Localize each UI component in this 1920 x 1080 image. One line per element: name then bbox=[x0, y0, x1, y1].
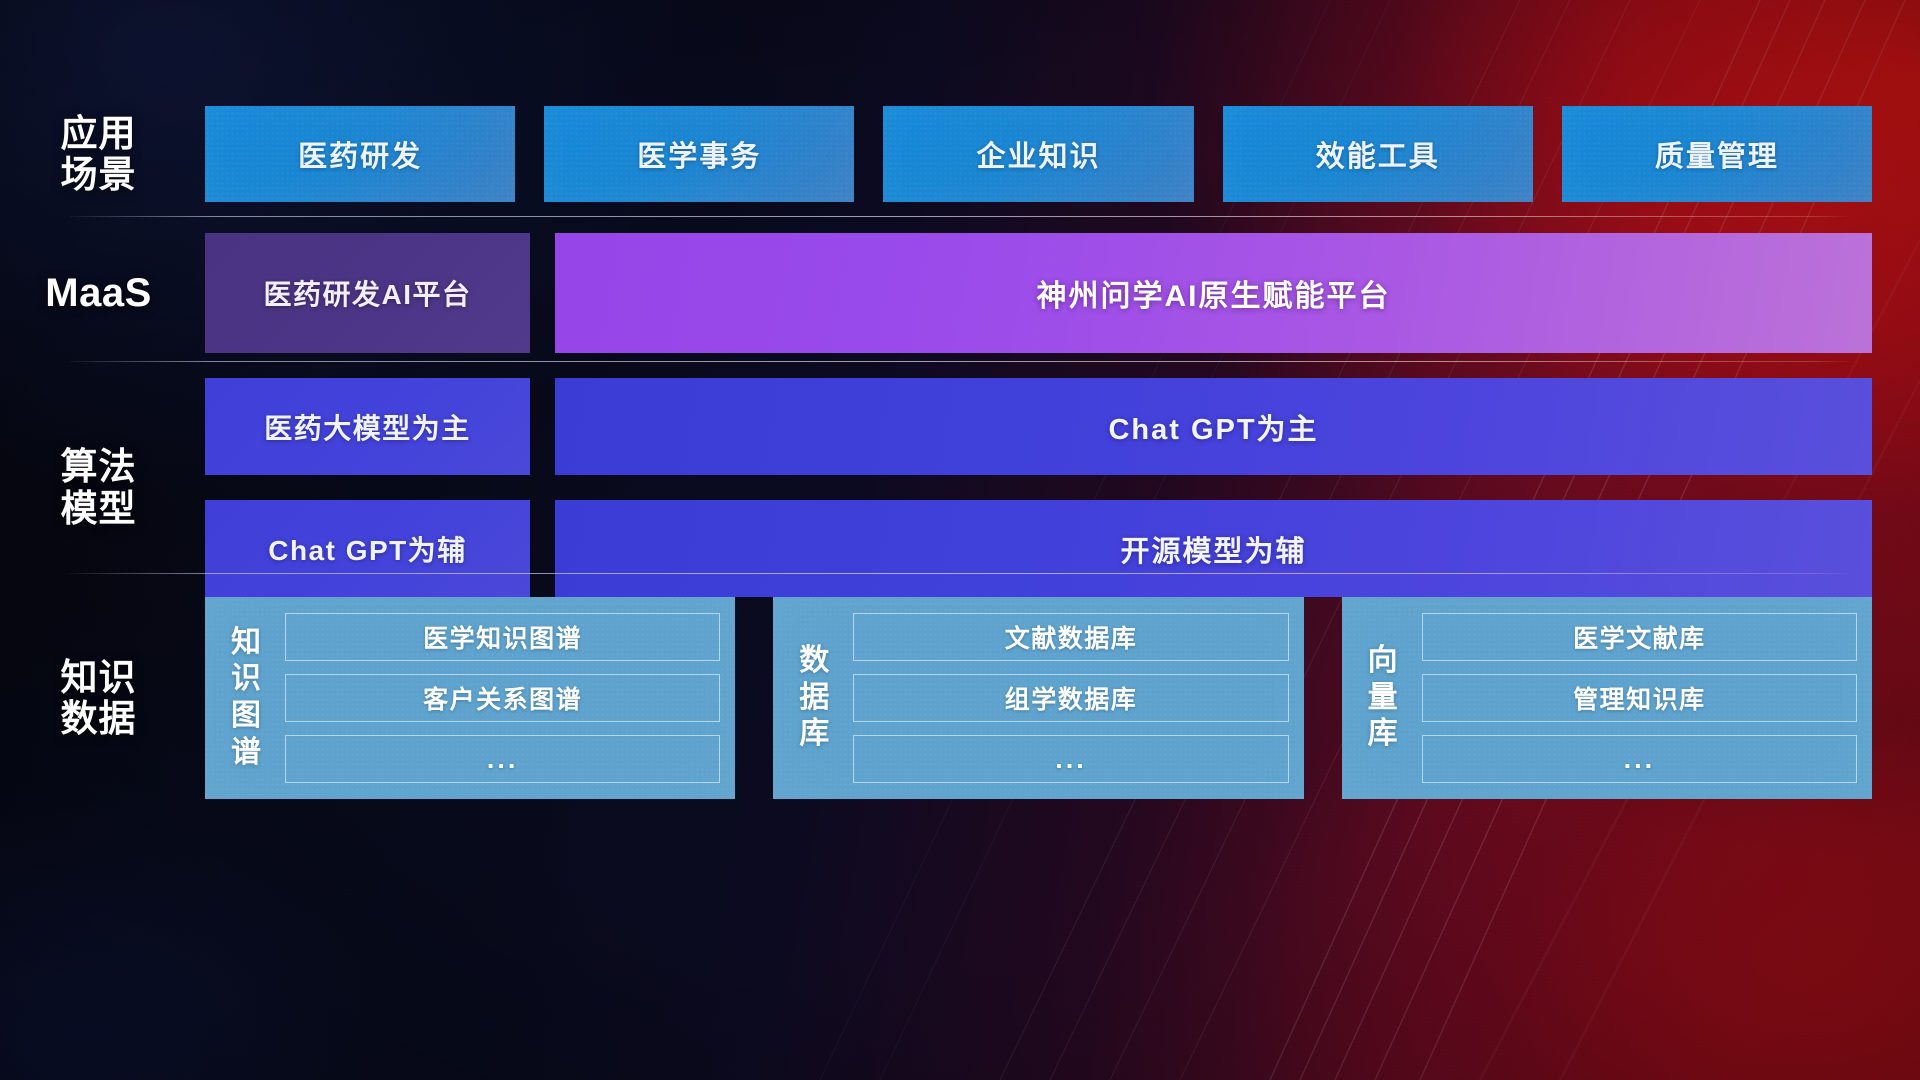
app-card-medicine-rd[interactable]: 医药研发 bbox=[205, 106, 515, 202]
knowledge-item[interactable]: 文献数据库 bbox=[853, 613, 1288, 661]
algorithm-card-opensource-secondary[interactable]: 开源模型为辅 bbox=[555, 500, 1872, 597]
algorithm-model-label: 算法 模型 bbox=[0, 446, 205, 529]
knowledge-item-more[interactable]: ... bbox=[1422, 735, 1857, 783]
algorithm-secondary-row: Chat GPT为辅 开源模型为辅 bbox=[205, 500, 1872, 597]
maas-card-shenzhou-wenxue-platform[interactable]: 神州问学AI原生赋能平台 bbox=[555, 233, 1872, 353]
maas-card-pharma-ai-platform[interactable]: 医药研发AI平台 bbox=[205, 233, 530, 353]
algorithm-card-label: Chat GPT为辅 bbox=[268, 529, 467, 569]
app-card-quality-management[interactable]: 质量管理 bbox=[1562, 106, 1872, 202]
knowledge-item-list: 医学知识图谱 客户关系图谱 ... bbox=[285, 613, 720, 783]
knowledge-panel-title: 向量库 bbox=[1354, 613, 1412, 783]
knowledge-item-more[interactable]: ... bbox=[285, 735, 720, 783]
maas-label: MaaS bbox=[0, 271, 205, 316]
algorithm-card-chatgpt-primary[interactable]: Chat GPT为主 bbox=[555, 378, 1872, 475]
knowledge-data-row: 知识 数据 知识图谱 医学知识图谱 客户关系图谱 ... 数据库 bbox=[0, 598, 1920, 798]
app-card-label: 医药研发 bbox=[298, 133, 422, 175]
knowledge-panel-title: 知识图谱 bbox=[217, 613, 275, 783]
knowledge-item-list: 文献数据库 组学数据库 ... bbox=[853, 613, 1288, 783]
divider-maas-algorithm bbox=[70, 361, 1852, 362]
knowledge-panel-title: 数据库 bbox=[785, 613, 843, 783]
algorithm-card-chatgpt-secondary[interactable]: Chat GPT为辅 bbox=[205, 500, 530, 597]
algorithm-card-label: Chat GPT为主 bbox=[1108, 406, 1318, 448]
knowledge-data-label: 知识 数据 bbox=[0, 657, 205, 740]
maas-card-label: 神州问学AI原生赋能平台 bbox=[1037, 271, 1391, 315]
divider-algorithm-knowledge bbox=[70, 573, 1852, 574]
application-scenario-row: 应用 场景 医药研发 医学事务 企业知识 效能工具 bbox=[0, 106, 1920, 202]
algorithm-primary-row: 医药大模型为主 Chat GPT为主 bbox=[205, 378, 1872, 475]
knowledge-panel-database: 数据库 文献数据库 组学数据库 ... bbox=[773, 597, 1303, 799]
slide-canvas: 应用 场景 医药研发 医学事务 企业知识 效能工具 bbox=[0, 0, 1920, 1080]
maas-row: MaaS 医药研发AI平台 神州问学AI原生赋能平台 bbox=[0, 233, 1920, 353]
algorithm-model-row: 算法 模型 医药大模型为主 Chat GPT为主 Chat GPT为辅 开源模型… bbox=[0, 378, 1920, 597]
knowledge-panel-knowledge-graph: 知识图谱 医学知识图谱 客户关系图谱 ... bbox=[205, 597, 735, 799]
app-card-medical-affairs[interactable]: 医学事务 bbox=[544, 106, 854, 202]
knowledge-item[interactable]: 管理知识库 bbox=[1422, 674, 1857, 722]
app-card-enterprise-knowledge[interactable]: 企业知识 bbox=[883, 106, 1193, 202]
knowledge-panel-list: 知识图谱 医学知识图谱 客户关系图谱 ... 数据库 文献数据库 组学数据库 .… bbox=[205, 597, 1872, 799]
maas-card-label: 医药研发AI平台 bbox=[263, 273, 471, 313]
application-card-list: 医药研发 医学事务 企业知识 效能工具 质量管理 bbox=[205, 106, 1872, 202]
app-card-label: 企业知识 bbox=[977, 133, 1101, 175]
application-scenario-label: 应用 场景 bbox=[0, 113, 205, 196]
knowledge-item[interactable]: 客户关系图谱 bbox=[285, 674, 720, 722]
knowledge-item[interactable]: 医学知识图谱 bbox=[285, 613, 720, 661]
knowledge-panel-vector-store: 向量库 医学文献库 管理知识库 ... bbox=[1342, 597, 1872, 799]
algorithm-card-label: 医药大模型为主 bbox=[264, 407, 471, 447]
architecture-diagram: 应用 场景 医药研发 医学事务 企业知识 效能工具 bbox=[0, 0, 1920, 1080]
app-card-label: 质量管理 bbox=[1655, 133, 1779, 175]
app-card-efficiency-tools[interactable]: 效能工具 bbox=[1223, 106, 1533, 202]
app-card-label: 效能工具 bbox=[1316, 133, 1440, 175]
algorithm-card-pharma-llm-primary[interactable]: 医药大模型为主 bbox=[205, 378, 530, 475]
knowledge-item[interactable]: 医学文献库 bbox=[1422, 613, 1857, 661]
maas-card-list: 医药研发AI平台 神州问学AI原生赋能平台 bbox=[205, 233, 1872, 353]
knowledge-item[interactable]: 组学数据库 bbox=[853, 674, 1288, 722]
knowledge-item-more[interactable]: ... bbox=[853, 735, 1288, 783]
knowledge-item-list: 医学文献库 管理知识库 ... bbox=[1422, 613, 1857, 783]
algorithm-card-label: 开源模型为辅 bbox=[1120, 528, 1306, 570]
divider-application-maas bbox=[70, 216, 1852, 217]
app-card-label: 医学事务 bbox=[637, 133, 761, 175]
